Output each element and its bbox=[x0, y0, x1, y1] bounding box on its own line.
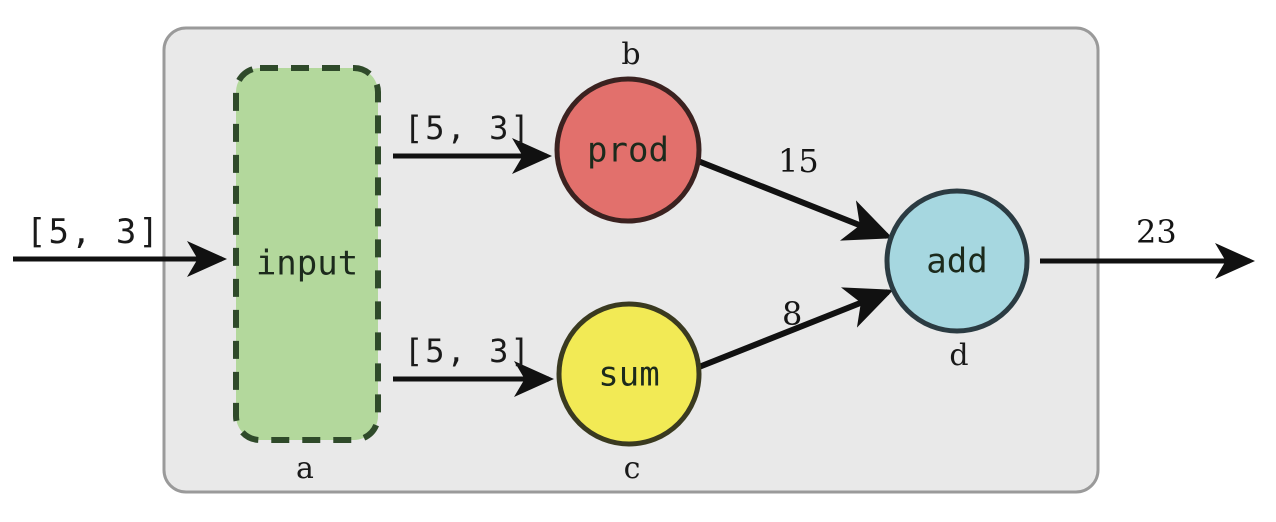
node-sum-tag: c bbox=[624, 451, 641, 486]
edge-a-c-label: [5, 3] bbox=[404, 332, 532, 370]
edge-b-d-label: 15 bbox=[778, 142, 819, 180]
node-input-tag: a bbox=[296, 451, 314, 486]
node-add-label: add bbox=[926, 242, 987, 282]
edge-external-in-label: [5, 3] bbox=[26, 212, 161, 252]
edge-a-b-label: [5, 3] bbox=[404, 109, 532, 147]
node-input[interactable]: input a bbox=[236, 68, 378, 486]
edge-d-external-label: 23 bbox=[1136, 213, 1177, 251]
node-sum-label: sum bbox=[598, 355, 659, 395]
computation-graph-svg: [5, 3] [5, 3] [5, 3] 15 8 23 bbox=[0, 0, 1276, 522]
edge-c-d-label: 8 bbox=[782, 295, 802, 333]
diagram-canvas: [5, 3] [5, 3] [5, 3] 15 8 23 bbox=[0, 0, 1276, 522]
node-prod-label: prod bbox=[587, 131, 669, 171]
node-add-tag: d bbox=[949, 338, 968, 373]
node-prod-tag: b bbox=[621, 37, 640, 72]
node-input-label: input bbox=[256, 244, 358, 284]
